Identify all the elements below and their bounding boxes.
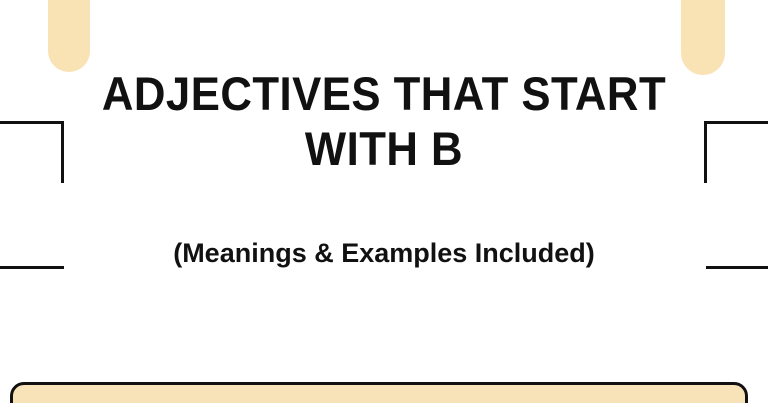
content-panel xyxy=(10,382,748,403)
page-title-line-1: ADJECTIVES THAT START xyxy=(27,66,741,121)
top-right-accent-bar xyxy=(681,0,725,75)
page-title: ADJECTIVES THAT START WITH B xyxy=(0,66,768,176)
top-left-accent-bar xyxy=(48,0,90,72)
page-title-line-2: WITH B xyxy=(27,121,741,176)
page-root: ADJECTIVES THAT START WITH B (Meanings &… xyxy=(0,0,768,403)
page-subtitle: (Meanings & Examples Included) xyxy=(0,236,768,270)
